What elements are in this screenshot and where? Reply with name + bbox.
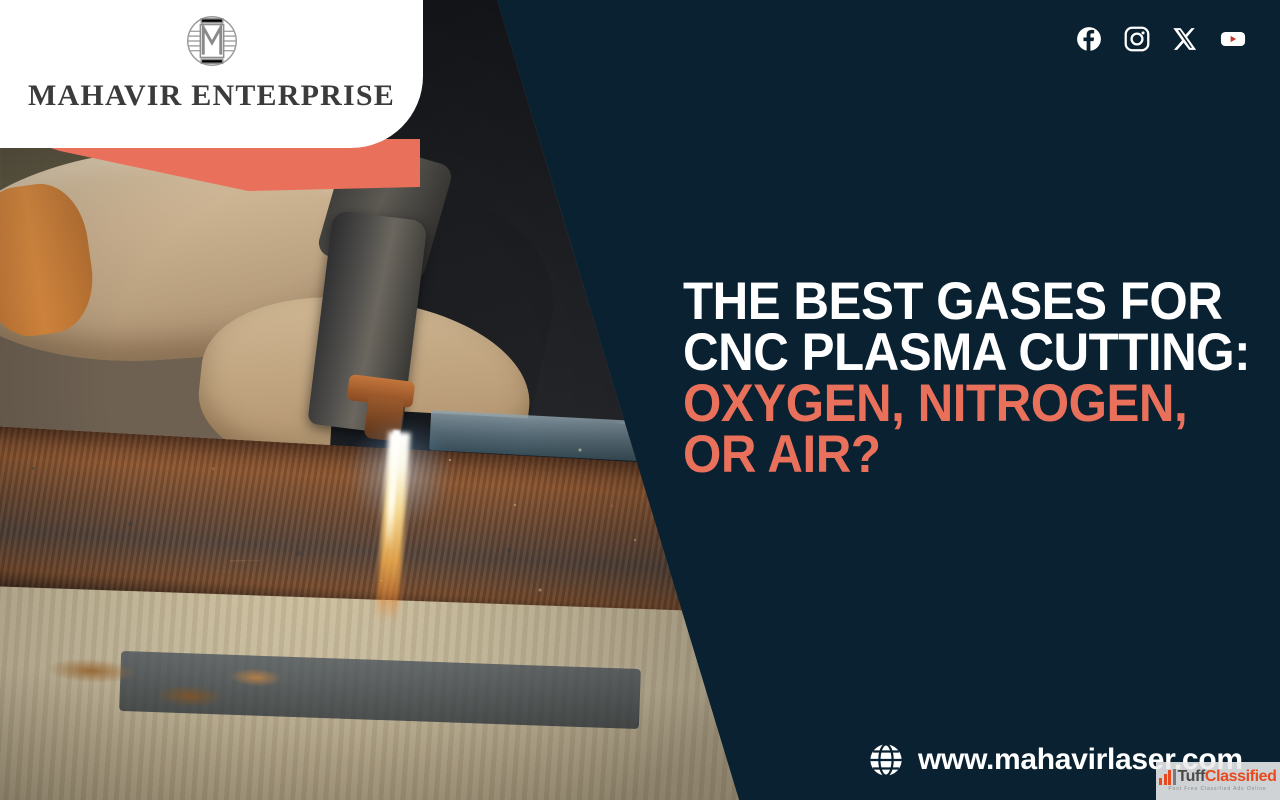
brand-logo-card[interactable]: MAHAVIR ENTERPRISE: [0, 0, 423, 148]
mahavir-monogram-icon: [181, 10, 243, 77]
watermark-brand-part2: Classified: [1205, 768, 1277, 785]
watermark-brand-part1: Tuff: [1178, 768, 1205, 785]
youtube-icon[interactable]: [1220, 26, 1246, 52]
x-twitter-icon[interactable]: [1172, 26, 1198, 52]
promotional-banner: MAHAVIR ENTERPRISE: [0, 0, 1280, 800]
watermark-logo-row: TuffClassified: [1159, 769, 1276, 785]
watermark-tagline: Post Free Classified Ads Online: [1159, 786, 1276, 793]
globe-icon: [868, 742, 904, 778]
headline-line-2: CNC PLASMA CUTTING:: [683, 327, 1185, 378]
headline-line-3: OXYGEN, NITROGEN,: [683, 378, 1185, 429]
social-links: [1076, 26, 1246, 52]
watermark-brand: TuffClassified: [1178, 769, 1277, 785]
facebook-icon[interactable]: [1076, 26, 1102, 52]
headline-line-1: THE BEST GASES FOR: [683, 276, 1185, 327]
brand-name: MAHAVIR ENTERPRISE: [28, 79, 395, 113]
bar-chart-icon: [1159, 769, 1176, 785]
instagram-icon[interactable]: [1124, 26, 1150, 52]
tuffclassified-watermark: TuffClassified Post Free Classified Ads …: [1156, 762, 1280, 800]
headline-block: THE BEST GASES FOR CNC PLASMA CUTTING: O…: [683, 276, 1223, 480]
headline-line-4: OR AIR?: [683, 429, 1185, 480]
